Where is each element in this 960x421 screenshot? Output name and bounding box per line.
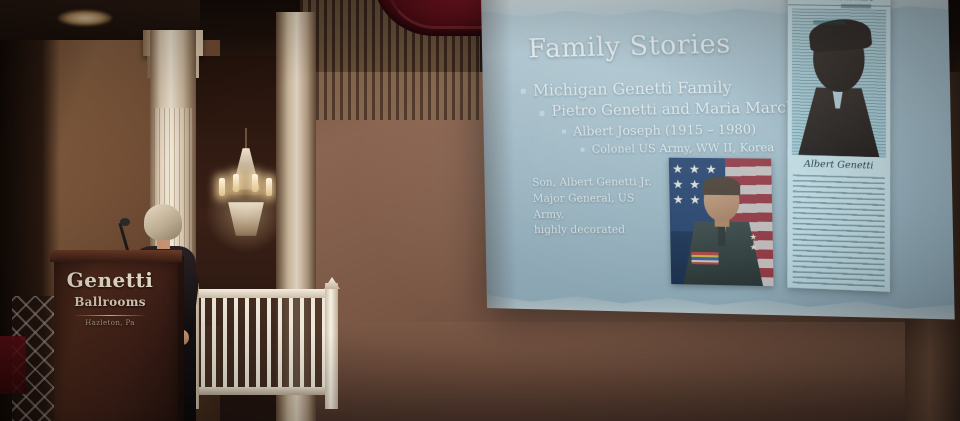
- clipping-headline: Lieutenant: [788, 0, 891, 7]
- bullet-marker-icon: [580, 148, 584, 152]
- clipping-halftone-photo: [792, 8, 886, 157]
- bullet-text: Michigan Genetti Family: [533, 78, 733, 100]
- railing-top-rail: [186, 289, 338, 298]
- slide-title: Family Stories: [527, 29, 731, 65]
- chandelier-candle-light: [266, 178, 272, 196]
- red-furniture: [0, 336, 26, 394]
- clipping-highlight: [841, 4, 871, 9]
- recessed-downlight: [58, 10, 112, 26]
- railing-newel-post: [325, 283, 338, 409]
- crystal-chandelier: [216, 128, 276, 278]
- slide-left-shadow: [481, 0, 517, 309]
- clipping-article-text: [793, 174, 885, 289]
- venue-name: Genetti: [58, 270, 162, 291]
- microphone-icon: [120, 218, 130, 226]
- bullet-text: Albert Joseph (1915 – 1980): [573, 121, 757, 138]
- bullet-marker-icon: [521, 89, 526, 94]
- venue-subtitle: Ballrooms: [58, 296, 162, 309]
- caption-line: highly decorated: [534, 223, 667, 239]
- venue-city: Hazleton, Pa: [58, 320, 162, 327]
- bullet-marker-icon: [562, 129, 566, 133]
- clipping-highlight: [813, 20, 845, 25]
- officer-portrait-photo: ★ ★: [669, 158, 774, 287]
- chandelier-arm: [220, 190, 272, 195]
- slide-photo-caption: Son, Albert Genetti Jr. Major General, U…: [532, 175, 667, 239]
- balustrade-railing: [186, 289, 338, 409]
- rank-star-icon: ★: [750, 243, 758, 252]
- railing-spindles: [190, 298, 334, 387]
- caption-line: Major General, US Army,: [533, 191, 667, 223]
- podium-venue-sign: Genetti Ballrooms Hazleton, Pa: [58, 270, 162, 327]
- caption-line: Son, Albert Genetti Jr.: [532, 175, 665, 192]
- railing-bottom-rail: [186, 387, 338, 395]
- chandelier-candle-light: [252, 174, 258, 192]
- projection-screen: Family Stories Michigan Genetti Family P…: [481, 0, 955, 319]
- slide-canvas: Family Stories Michigan Genetti Family P…: [481, 0, 955, 319]
- rank-star-icon: ★: [749, 232, 757, 241]
- sign-divider: [73, 315, 147, 316]
- newspaper-clipping: Lieutenant Albert Genetti: [787, 0, 890, 292]
- portrait-necktie: [718, 226, 726, 247]
- chandelier-candle-light: [233, 174, 239, 192]
- wall-wainscot-band: [300, 322, 960, 421]
- portrait-hair: [702, 176, 740, 195]
- chandelier-chain: [245, 128, 247, 150]
- presentation-photo: Genetti Ballrooms Hazleton, Pa Family St…: [0, 0, 960, 421]
- podium-top-ledge: [50, 250, 182, 262]
- chandelier-candle-light: [219, 178, 225, 196]
- speaker-hair: [144, 204, 182, 240]
- bullet-text: Pietro Genetti and Maria Marchetti: [551, 99, 822, 119]
- clipping-photo-caption: Albert Genetti: [788, 158, 891, 176]
- bullet-marker-icon: [539, 110, 544, 115]
- portrait-ribbon-rack: [691, 252, 718, 265]
- bullet-text: Colonel US Army, WW II, Korea: [591, 141, 774, 156]
